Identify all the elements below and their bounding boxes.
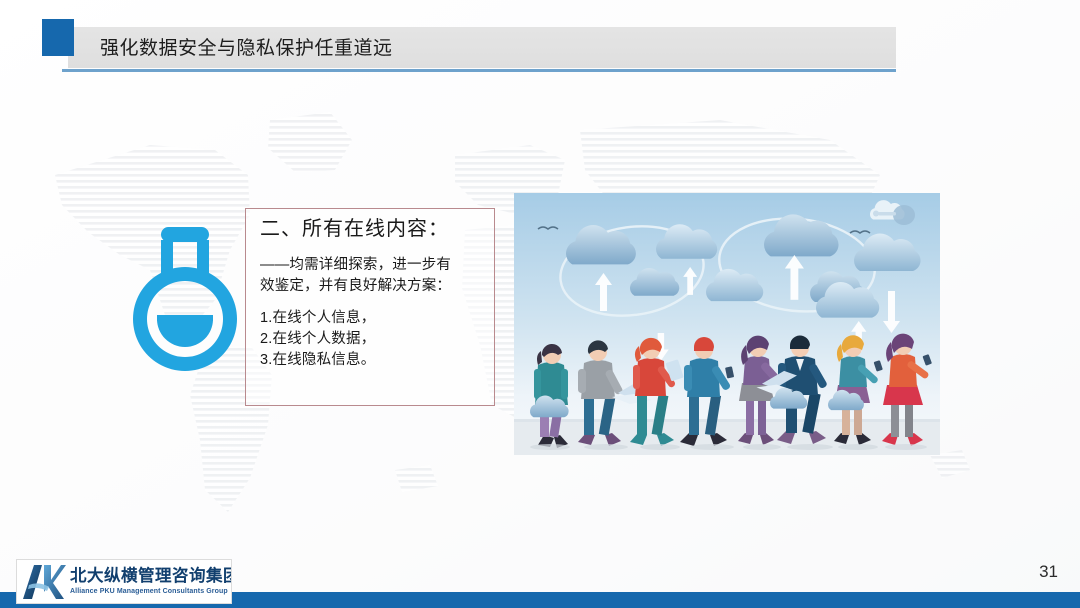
callout-heading: 二、所有在线内容： xyxy=(260,218,482,241)
callout-box: 二、所有在线内容： ——均需详细探索，进一步有 效鉴定，并有良好解决方案： 1.… xyxy=(245,208,495,406)
flask-icon xyxy=(133,225,237,377)
list-item: 2.在线个人数据， xyxy=(260,329,482,350)
cloud-people-illustration xyxy=(514,193,940,455)
logo-english-name: Alliance PKU Management Consultants Grou… xyxy=(70,588,232,595)
page-title: 强化数据安全与隐私保护任重道远 xyxy=(100,33,393,60)
list-item: 3.在线隐私信息。 xyxy=(260,350,482,371)
title-accent-square xyxy=(42,19,74,56)
logo-chinese-name: 北大纵横管理咨询集团 xyxy=(70,568,232,585)
callout-list: 1.在线个人信息， 2.在线个人数据， 3.在线隐私信息。 xyxy=(260,308,482,371)
list-item: 1.在线个人信息， xyxy=(260,308,482,329)
slide-canvas: 强化数据安全与隐私保护任重道远 二、所有在线内容： ——均需详细探索，进一步有 … xyxy=(0,0,1080,608)
company-logo: 北大纵横管理咨询集团 Alliance PKU Management Consu… xyxy=(16,559,232,604)
alliance-pku-logo-icon xyxy=(20,562,66,602)
callout-body-line-2: 效鉴定，并有良好解决方案： xyxy=(260,276,482,297)
page-number: 31 xyxy=(1039,562,1058,582)
callout-body-line-1: ——均需详细探索，进一步有 xyxy=(260,255,482,276)
title-underline-rule xyxy=(62,69,896,72)
logo-text: 北大纵横管理咨询集团 Alliance PKU Management Consu… xyxy=(70,568,232,595)
